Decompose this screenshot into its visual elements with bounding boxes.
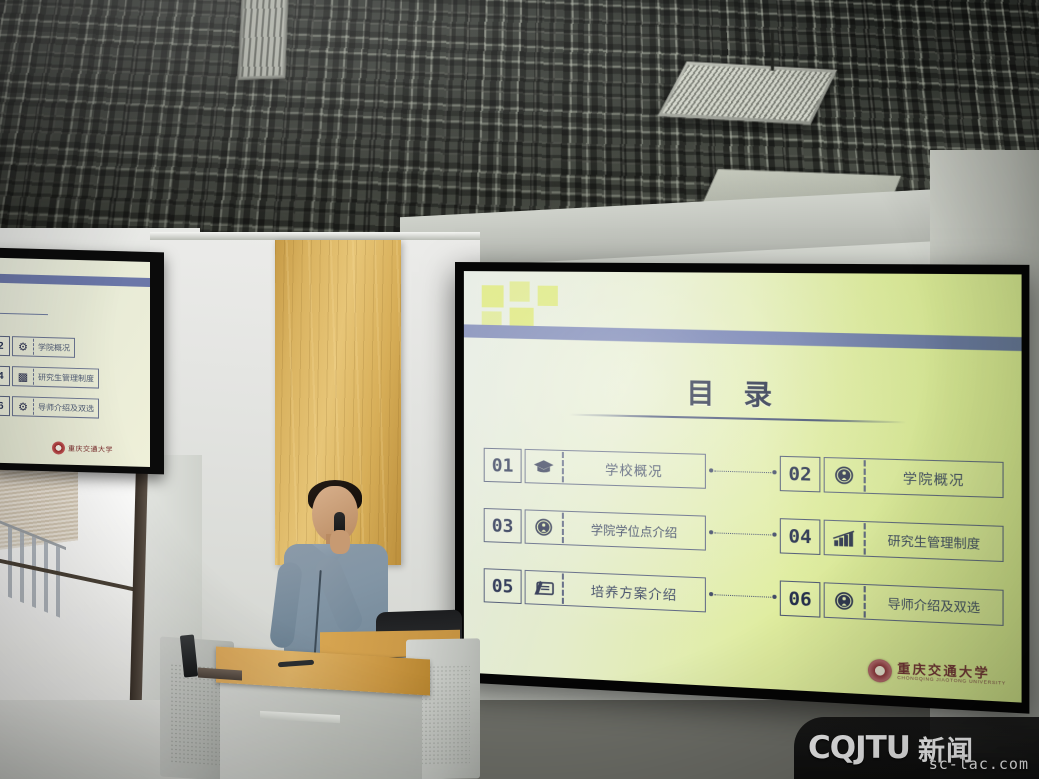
toc-item-label: 学院学位点介绍	[564, 519, 705, 541]
secondary-row-label: 学院概况	[34, 341, 74, 353]
document-pen-icon	[526, 572, 564, 604]
secondary-row: 06 ⚙ 导师介绍及双选	[0, 395, 99, 418]
toc-item-label: 学院概况	[866, 466, 1003, 490]
toc-item[interactable]: 01 学校概况	[484, 448, 706, 489]
title-underline	[568, 414, 905, 424]
gear-person-icon: ⚙	[13, 338, 34, 355]
secondary-row-label: 研究生管理制度	[34, 371, 98, 384]
toc-item-number: 02	[780, 456, 821, 493]
secondary-slide-title: 录	[0, 287, 42, 313]
toc-item-body: 学院概况	[824, 457, 1004, 498]
toc-item-number: 04	[780, 518, 821, 555]
secondary-row-number: 02	[0, 335, 10, 356]
connector-dot	[709, 592, 713, 596]
toc-item[interactable]: 04 研究生管理制度	[780, 518, 1004, 562]
watermark-brand: CQJTU	[808, 730, 910, 766]
connector-dot	[772, 595, 776, 599]
toc-item-number: 05	[484, 568, 522, 604]
secondary-row-body: ⚙ 导师介绍及双选	[12, 396, 99, 418]
connector-dot	[709, 530, 713, 534]
toc-row: 05 培养方案介绍	[484, 568, 1004, 626]
secondary-logo-name: 重庆交通大学	[68, 443, 113, 454]
gear-person-icon	[825, 459, 866, 492]
secondary-row-number: 06	[0, 395, 10, 416]
university-logo: 重庆交通大学 CHONGQING JIAOTONG UNIVERSITY	[868, 659, 1006, 689]
toc-item-body: 学校概况	[525, 449, 706, 489]
connector-line	[714, 471, 771, 474]
graduation-cap-icon	[526, 451, 564, 482]
projection-screen: 目 录 01 学校概况	[455, 262, 1029, 714]
connector-dot	[709, 468, 713, 472]
secondary-row-body: ⚙ 学院概况	[12, 336, 75, 358]
gear-person-icon	[526, 511, 564, 543]
toc-item-label: 研究生管理制度	[866, 530, 1003, 553]
toc-row: 03 学院学位点介绍	[484, 508, 1004, 562]
bar-chart-icon: ▩	[13, 368, 34, 385]
gear-person-icon: ⚙	[13, 398, 34, 415]
connector-dot	[772, 532, 776, 536]
slide-title: 目 录	[464, 367, 1022, 418]
toc-connector	[709, 466, 777, 478]
toc-item-number: 01	[484, 448, 522, 483]
toc-item-body: 研究生管理制度	[824, 520, 1004, 562]
secondary-slide: 录 02 ⚙ 学院概况 04 ▩ 研究生管理制度 06 ⚙	[0, 258, 150, 467]
toc-item-label: 培养方案介绍	[564, 579, 705, 605]
table-of-contents: 01 学校概况	[484, 448, 1004, 626]
toc-item-label: 学校概况	[564, 458, 705, 482]
secondary-projection-screen: 录 02 ⚙ 学院概况 04 ▩ 研究生管理制度 06 ⚙	[0, 248, 164, 475]
presenter-hand	[330, 530, 350, 554]
toc-item[interactable]: 06 导师介绍及双选	[780, 580, 1004, 626]
watermark-site: sc-lac.com	[929, 755, 1029, 773]
toc-row: 01 学校概况	[484, 448, 1004, 498]
toc-item-body: 培养方案介绍	[525, 570, 706, 613]
slide-accent-bar	[464, 324, 1022, 351]
toc-item[interactable]: 02 学院概况	[780, 456, 1004, 498]
podium	[160, 625, 480, 779]
secondary-row-label: 导师介绍及双选	[34, 401, 98, 414]
toc-connector	[709, 590, 777, 603]
secondary-row: 02 ⚙ 学院概况	[0, 335, 75, 357]
slide-accent-bar	[0, 274, 150, 287]
gear-person-icon	[825, 584, 866, 617]
university-seal-icon	[52, 441, 65, 454]
connector-line	[714, 594, 771, 598]
toc-item-label: 导师介绍及双选	[866, 593, 1003, 617]
lecture-hall-photo: 录 02 ⚙ 学院概况 04 ▩ 研究生管理制度 06 ⚙	[0, 0, 1039, 779]
secondary-row: 04 ▩ 研究生管理制度	[0, 365, 99, 388]
secondary-slide-logo: 重庆交通大学	[52, 441, 113, 456]
toc-item[interactable]: 03 学院学位点介绍	[484, 508, 706, 551]
toc-item-body: 导师介绍及双选	[824, 582, 1004, 626]
toc-item-number: 03	[484, 508, 522, 544]
toc-item-body: 学院学位点介绍	[525, 509, 706, 550]
secondary-row-body: ▩ 研究生管理制度	[12, 366, 99, 388]
secondary-row-number: 04	[0, 365, 10, 386]
university-seal-icon	[868, 659, 892, 683]
toc-item-number: 06	[780, 580, 821, 617]
connector-line	[714, 532, 771, 535]
presentation-slide: 目 录 01 学校概况	[464, 271, 1022, 703]
connector-dot	[772, 470, 776, 474]
bar-chart-icon	[825, 522, 866, 555]
toc-connector	[709, 528, 777, 541]
toc-item[interactable]: 05 培养方案介绍	[484, 568, 706, 612]
wall-rail	[150, 232, 480, 240]
